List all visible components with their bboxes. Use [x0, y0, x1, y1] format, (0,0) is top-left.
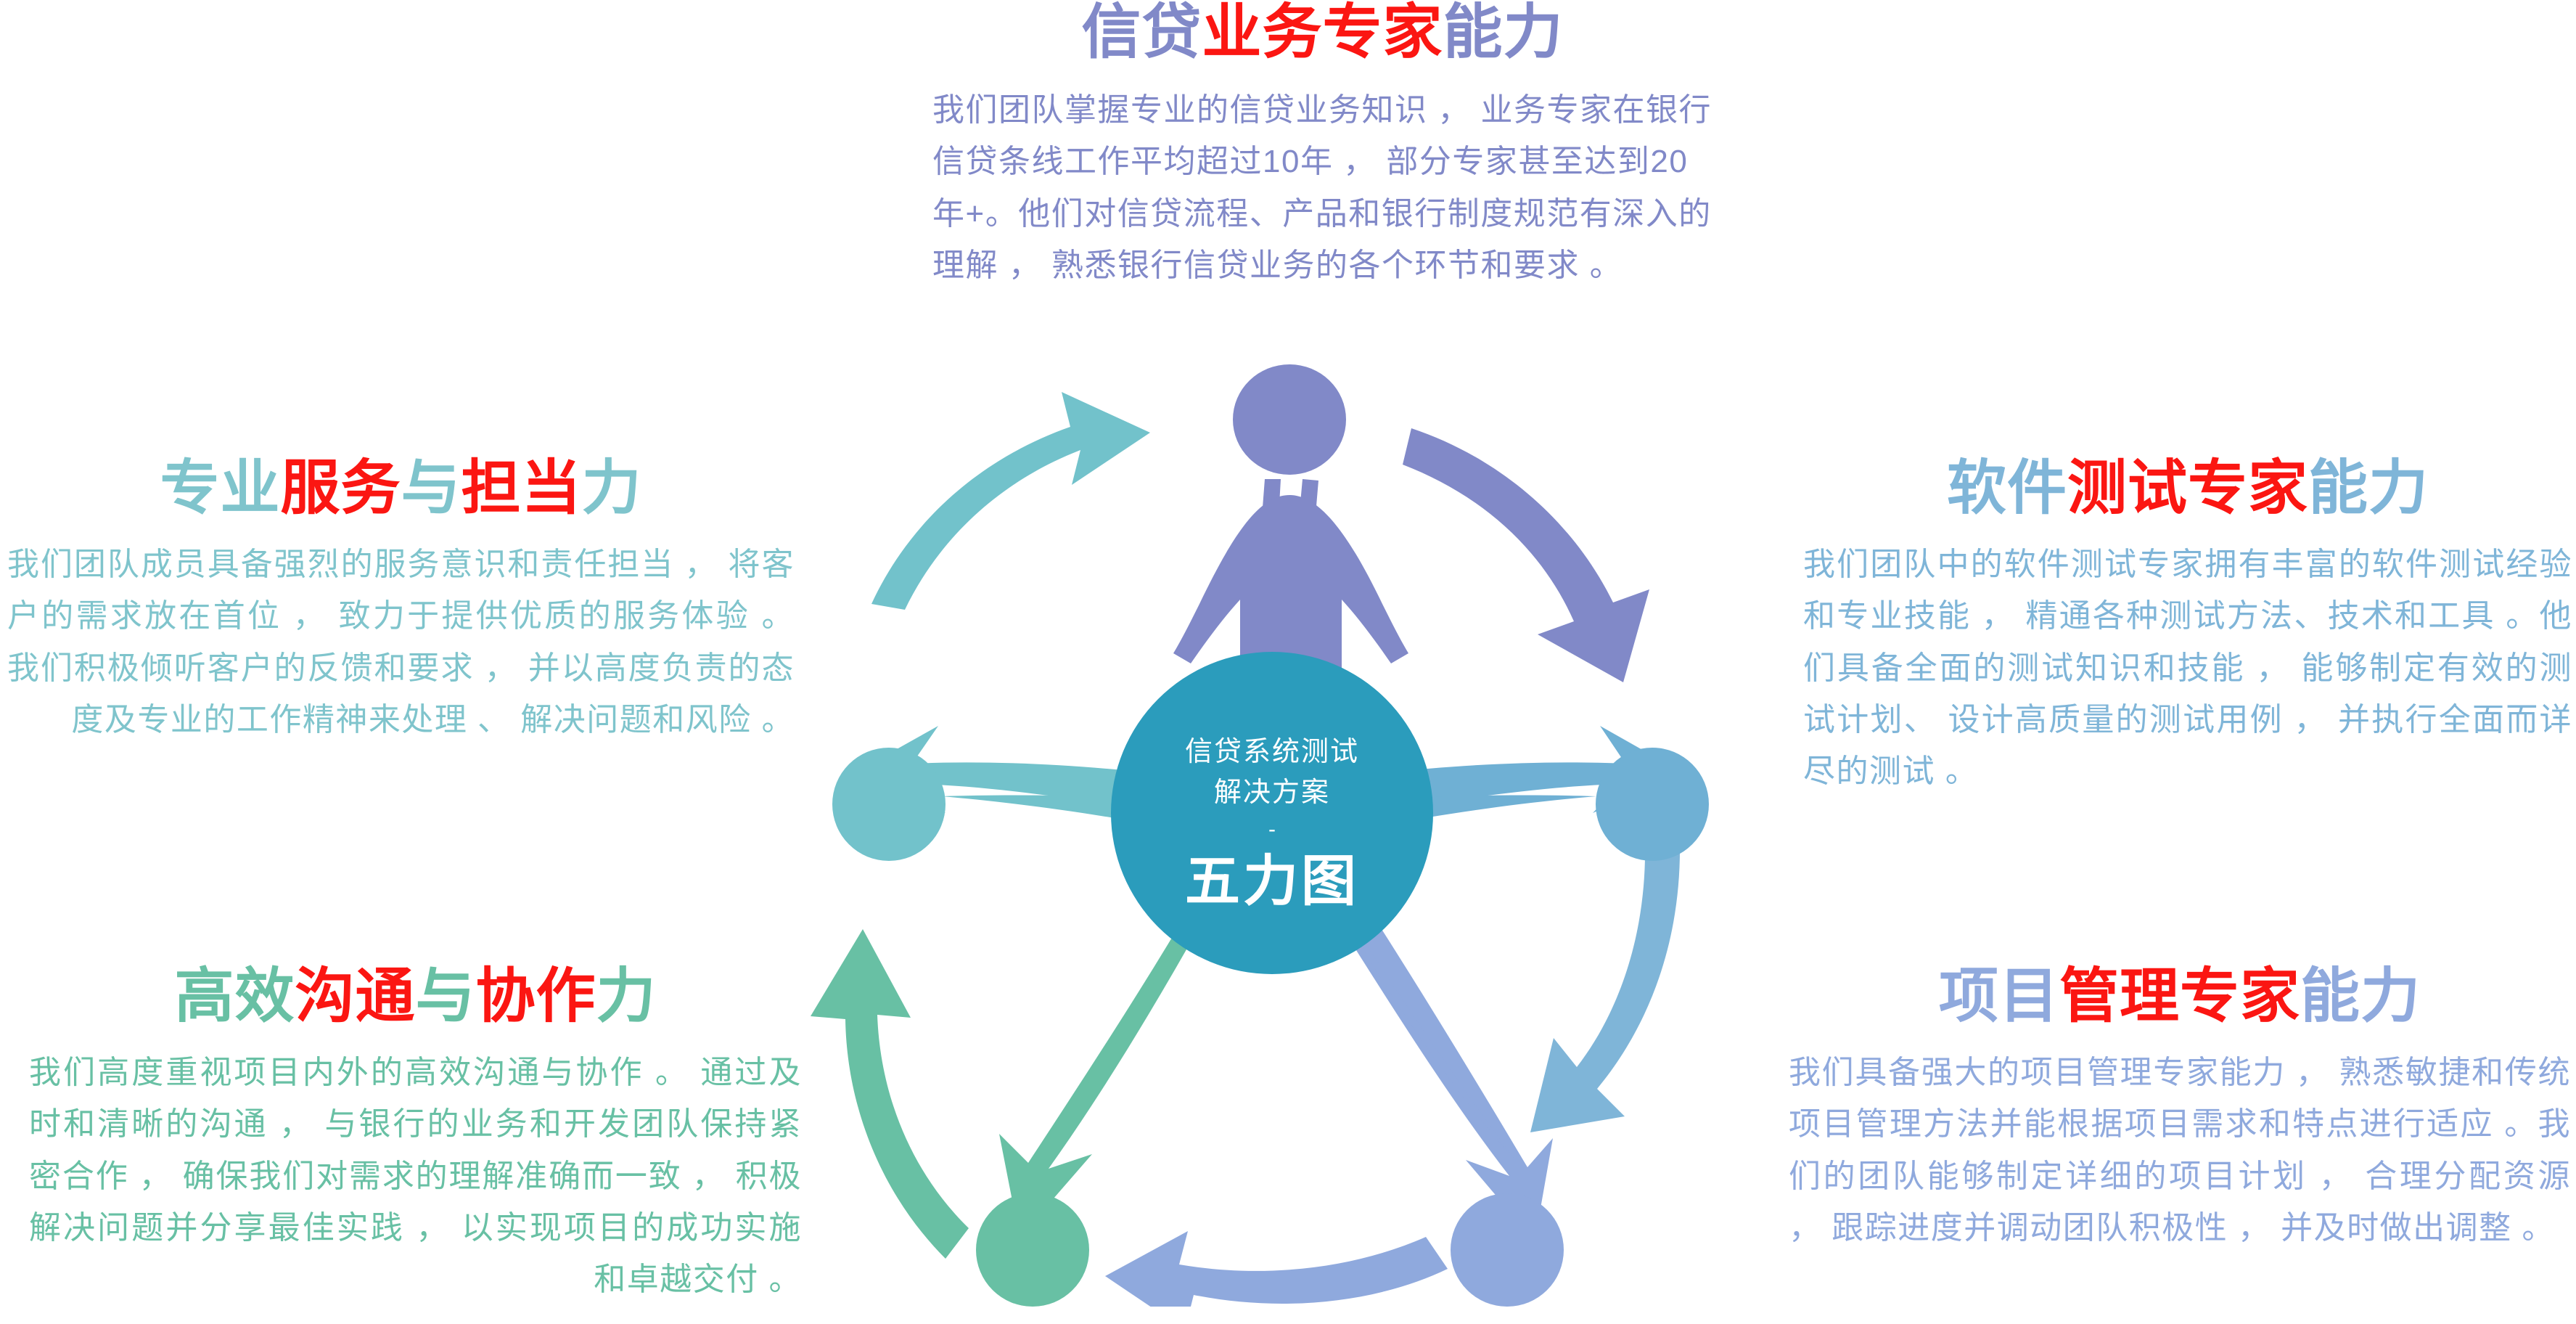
heading-segment-1: 沟通 [295, 963, 415, 1029]
arc-right-icon [1530, 842, 1680, 1132]
heading-segment-4: 力 [582, 455, 642, 521]
arc-bottom-icon [1105, 1231, 1448, 1307]
heading-segment-0: 专业 [160, 455, 280, 521]
node-bottom-left-icon [976, 1193, 1089, 1307]
panel-service-body: 我们团队成员具备强烈的服务意识和责任担当 ， 将客户的需求放在首位 ， 致力于提… [7, 539, 795, 745]
heading-segment-0: 软件 [1947, 455, 2067, 521]
heading-segment-2: 能力 [1443, 0, 1564, 65]
heading-segment-0: 项目 [1939, 963, 2059, 1029]
node-right-icon [1596, 748, 1709, 861]
panel-credit-expertise: 信贷业务专家能力 我们团队掌握专业的信贷业务知识 ， 业务专家在银行信贷条线工作… [932, 3, 1712, 291]
node-bottom-right-icon [1451, 1193, 1564, 1307]
heading-segment-0: 信贷 [1081, 0, 1202, 65]
node-left-icon [832, 748, 946, 861]
heading-segment-2: 能力 [2300, 963, 2421, 1029]
hub-label-title: 五力图 [1185, 851, 1359, 912]
panel-service-heading: 专业服务与担当力 [7, 459, 795, 518]
panel-testing-heading: 软件测试专家能力 [1803, 459, 2572, 518]
panel-testing-body: 我们团队中的软件测试专家拥有丰富的软件测试经验和专业技能 ， 精通各种测试方法、… [1803, 539, 2572, 797]
panel-service-responsibility: 专业服务与担当力 我们团队成员具备强烈的服务意识和责任担当 ， 将客户的需求放在… [7, 459, 795, 745]
panel-testing-expertise: 软件测试专家能力 我们团队中的软件测试专家拥有丰富的软件测试经验和专业技能 ， … [1803, 459, 2572, 797]
panel-project-management-expertise: 项目管理专家能力 我们具备强大的项目管理专家能力 ， 熟悉敏捷和传统项目管理方法… [1789, 967, 2571, 1254]
hub-label-line1: 信贷系统测试 [1185, 737, 1359, 767]
panel-communication-collaboration: 高效沟通与协作力 我们高度重视项目内外的高效沟通与协作 。 通过及时和清晰的沟通… [29, 967, 802, 1305]
hub-label-divider: - [1268, 817, 1276, 841]
panel-credit-body: 我们团队掌握专业的信贷业务知识 ， 业务专家在银行信贷条线工作平均超过10年 ，… [932, 84, 1712, 291]
arc-left-lower-icon [811, 929, 969, 1259]
arc-top-right-icon [1403, 428, 1649, 682]
panel-communication-body: 我们高度重视项目内外的高效沟通与协作 。 通过及时和清晰的沟通 ， 与银行的业务… [29, 1047, 802, 1305]
heading-segment-1: 服务 [280, 455, 401, 521]
heading-segment-3: 协作 [476, 963, 596, 1029]
heading-segment-0: 高效 [174, 963, 295, 1029]
heading-segment-3: 担当 [462, 455, 582, 521]
hub-label-line2: 解决方案 [1214, 777, 1330, 808]
panel-communication-heading: 高效沟通与协作力 [29, 967, 802, 1026]
heading-segment-1: 管理专家 [2059, 963, 2300, 1029]
heading-segment-4: 力 [596, 963, 657, 1029]
five-forces-star-diagram: 信贷系统测试 解决方案 - 五力图 [802, 363, 1738, 1307]
panel-credit-heading: 信贷业务专家能力 [932, 3, 1712, 62]
heading-segment-2: 与 [401, 455, 461, 521]
panel-pm-heading: 项目管理专家能力 [1789, 967, 2571, 1026]
heading-segment-2: 能力 [2308, 455, 2429, 521]
heading-segment-1: 业务专家 [1202, 0, 1443, 65]
heading-segment-1: 测试专家 [2067, 455, 2308, 521]
panel-pm-body: 我们具备强大的项目管理专家能力 ， 熟悉敏捷和传统项目管理方法并能根据项目需求和… [1789, 1047, 2571, 1254]
arc-top-left-icon [871, 392, 1150, 610]
heading-segment-2: 与 [415, 963, 475, 1029]
hub-circle [1111, 652, 1433, 974]
